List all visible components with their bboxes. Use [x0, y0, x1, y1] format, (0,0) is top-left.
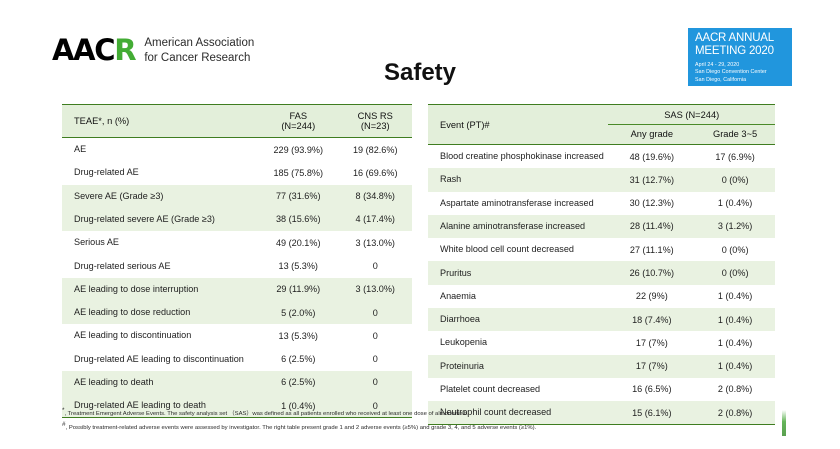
teae-summary-table: TEAE*, n (%) FAS (N=244) CNS RS (N=23) A… — [62, 104, 412, 418]
event-pt-header-row-top: Event (PT)# SAS (N=244) — [428, 105, 775, 125]
event-pt-header-group: SAS (N=244) — [608, 105, 775, 125]
row-value: 38 (15.6%) — [258, 208, 339, 231]
teae-header-fas: FAS (N=244) — [258, 105, 339, 138]
row-value: 0 — [339, 348, 413, 371]
row-value: 0 (0%) — [695, 238, 775, 261]
row-label: Drug-related serious AE — [62, 254, 258, 277]
row-label: Leukopenia — [428, 331, 608, 354]
teae-header-fas-line1: FAS — [260, 111, 337, 121]
row-value: 0 — [339, 371, 413, 394]
row-value: 6 (2.5%) — [258, 348, 339, 371]
row-value: 229 (93.9%) — [258, 138, 339, 162]
row-value: 1 (0.4%) — [695, 308, 775, 331]
row-value: 5 (2.0%) — [258, 301, 339, 324]
corner-accent-graphic — [782, 410, 786, 436]
row-label: Drug-related AE leading to discontinuati… — [62, 348, 258, 371]
teae-table: TEAE*, n (%) FAS (N=244) CNS RS (N=23) A… — [62, 104, 412, 418]
table-row: Alanine aminotransferase increased28 (11… — [428, 215, 775, 238]
logo-wordmark-line1: American Association — [144, 36, 254, 51]
row-value: 16 (6.5%) — [608, 378, 695, 401]
row-value: 2 (0.8%) — [695, 378, 775, 401]
row-value: 13 (5.3%) — [258, 324, 339, 347]
badge-title-line1: AACR ANNUAL — [695, 32, 786, 45]
table-row: Drug-related AE leading to discontinuati… — [62, 348, 412, 371]
event-pt-table-head: Event (PT)# SAS (N=244) Any grade Grade … — [428, 105, 775, 145]
table-row: AE leading to discontinuation13 (5.3%)0 — [62, 324, 412, 347]
row-label: Alanine aminotransferase increased — [428, 215, 608, 238]
row-label: Proteinuria — [428, 355, 608, 378]
teae-header-fas-line2: (N=244) — [260, 121, 337, 131]
table-row: Proteinuria17 (7%)1 (0.4%) — [428, 355, 775, 378]
teae-header-cnsrs: CNS RS (N=23) — [339, 105, 413, 138]
row-value: 29 (11.9%) — [258, 278, 339, 301]
row-value: 18 (7.4%) — [608, 308, 695, 331]
page-title: Safety — [0, 59, 840, 87]
table-row: Anaemia22 (9%)1 (0.4%) — [428, 285, 775, 308]
event-pt-header-any-grade: Any grade — [608, 125, 695, 145]
row-value: 3 (1.2%) — [695, 215, 775, 238]
row-label: AE leading to dose interruption — [62, 278, 258, 301]
row-value: 185 (75.8%) — [258, 161, 339, 184]
row-value: 49 (20.1%) — [258, 231, 339, 254]
teae-table-body: AE229 (93.9%)19 (82.6%)Drug-related AE18… — [62, 138, 412, 418]
row-label: Rash — [428, 168, 608, 191]
row-label: Blood creatine phosphokinase increased — [428, 145, 608, 169]
row-value: 0 (0%) — [695, 168, 775, 191]
event-pt-table-wrap: Event (PT)# SAS (N=244) Any grade Grade … — [428, 104, 775, 425]
row-label: AE leading to dose reduction — [62, 301, 258, 324]
row-label: AE leading to discontinuation — [62, 324, 258, 347]
row-label: Anaemia — [428, 285, 608, 308]
row-value: 3 (13.0%) — [339, 278, 413, 301]
footnotes: *, Treatment Emergent Adverse Events. Th… — [62, 405, 792, 434]
row-value: 0 — [339, 254, 413, 277]
teae-header-cnsrs-line2: (N=23) — [341, 121, 411, 131]
teae-table-head: TEAE*, n (%) FAS (N=244) CNS RS (N=23) — [62, 105, 412, 138]
row-label: AE leading to death — [62, 371, 258, 394]
row-value: 28 (11.4%) — [608, 215, 695, 238]
row-label: White blood cell count decreased — [428, 238, 608, 261]
table-row: Severe AE (Grade ≥3)77 (31.6%)8 (34.8%) — [62, 185, 412, 208]
table-row: Drug-related severe AE (Grade ≥3)38 (15.… — [62, 208, 412, 231]
table-row: Aspartate aminotransferase increased30 (… — [428, 192, 775, 215]
badge-title-line2: MEETING 2020 — [695, 45, 786, 58]
table-row: Pruritus26 (10.7%)0 (0%) — [428, 261, 775, 284]
row-value: 4 (17.4%) — [339, 208, 413, 231]
footnote-1-text: , Treatment Emergent Adverse Events. The… — [65, 411, 469, 417]
row-value: 16 (69.6%) — [339, 161, 413, 184]
event-pt-header-grade35: Grade 3~5 — [695, 125, 775, 145]
table-row: White blood cell count decreased27 (11.1… — [428, 238, 775, 261]
row-value: 6 (2.5%) — [258, 371, 339, 394]
row-label: Pruritus — [428, 261, 608, 284]
event-pt-table: Event (PT)# SAS (N=244) Any grade Grade … — [428, 104, 775, 425]
row-value: 1 (0.4%) — [695, 285, 775, 308]
row-value: 31 (12.7%) — [608, 168, 695, 191]
row-value: 17 (7%) — [608, 355, 695, 378]
row-value: 30 (12.3%) — [608, 192, 695, 215]
row-value: 0 — [339, 324, 413, 347]
row-label: Drug-related AE — [62, 161, 258, 184]
table-row: Blood creatine phosphokinase increased48… — [428, 145, 775, 169]
row-value: 13 (5.3%) — [258, 254, 339, 277]
teae-header-row: TEAE*, n (%) FAS (N=244) CNS RS (N=23) — [62, 105, 412, 138]
row-value: 8 (34.8%) — [339, 185, 413, 208]
table-row: AE229 (93.9%)19 (82.6%) — [62, 138, 412, 162]
row-value: 26 (10.7%) — [608, 261, 695, 284]
row-value: 1 (0.4%) — [695, 331, 775, 354]
row-value: 17 (7%) — [608, 331, 695, 354]
event-pt-table-body: Blood creatine phosphokinase increased48… — [428, 145, 775, 425]
table-row: Rash31 (12.7%)0 (0%) — [428, 168, 775, 191]
table-row: AE leading to dose reduction5 (2.0%)0 — [62, 301, 412, 324]
table-row: AE leading to death6 (2.5%)0 — [62, 371, 412, 394]
row-value: 0 — [339, 301, 413, 324]
row-label: Severe AE (Grade ≥3) — [62, 185, 258, 208]
teae-header-cnsrs-line1: CNS RS — [341, 111, 411, 121]
table-row: Diarrhoea18 (7.4%)1 (0.4%) — [428, 308, 775, 331]
row-value: 0 (0%) — [695, 261, 775, 284]
row-label: AE — [62, 138, 258, 162]
row-value: 17 (6.9%) — [695, 145, 775, 169]
footnote-2: #, Possibly treatment-related adverse ev… — [62, 419, 792, 433]
row-label: Drug-related severe AE (Grade ≥3) — [62, 208, 258, 231]
table-row: Drug-related AE185 (75.8%)16 (69.6%) — [62, 161, 412, 184]
table-row: Drug-related serious AE13 (5.3%)0 — [62, 254, 412, 277]
row-value: 1 (0.4%) — [695, 192, 775, 215]
footnote-2-text: , Possibly treatment-related adverse eve… — [66, 425, 537, 431]
row-value: 77 (31.6%) — [258, 185, 339, 208]
event-pt-header-label: Event (PT)# — [428, 105, 608, 145]
table-row: Serious AE49 (20.1%)3 (13.0%) — [62, 231, 412, 254]
row-label: Diarrhoea — [428, 308, 608, 331]
table-row: Leukopenia17 (7%)1 (0.4%) — [428, 331, 775, 354]
row-label: Platelet count decreased — [428, 378, 608, 401]
row-value: 48 (19.6%) — [608, 145, 695, 169]
footnote-1: *, Treatment Emergent Adverse Events. Th… — [62, 405, 792, 419]
table-row: Platelet count decreased16 (6.5%)2 (0.8%… — [428, 378, 775, 401]
row-value: 27 (11.1%) — [608, 238, 695, 261]
row-value: 19 (82.6%) — [339, 138, 413, 162]
row-label: Aspartate aminotransferase increased — [428, 192, 608, 215]
row-label: Serious AE — [62, 231, 258, 254]
teae-header-label: TEAE*, n (%) — [62, 105, 258, 138]
row-value: 1 (0.4%) — [695, 355, 775, 378]
table-row: AE leading to dose interruption29 (11.9%… — [62, 278, 412, 301]
row-value: 22 (9%) — [608, 285, 695, 308]
row-value: 3 (13.0%) — [339, 231, 413, 254]
